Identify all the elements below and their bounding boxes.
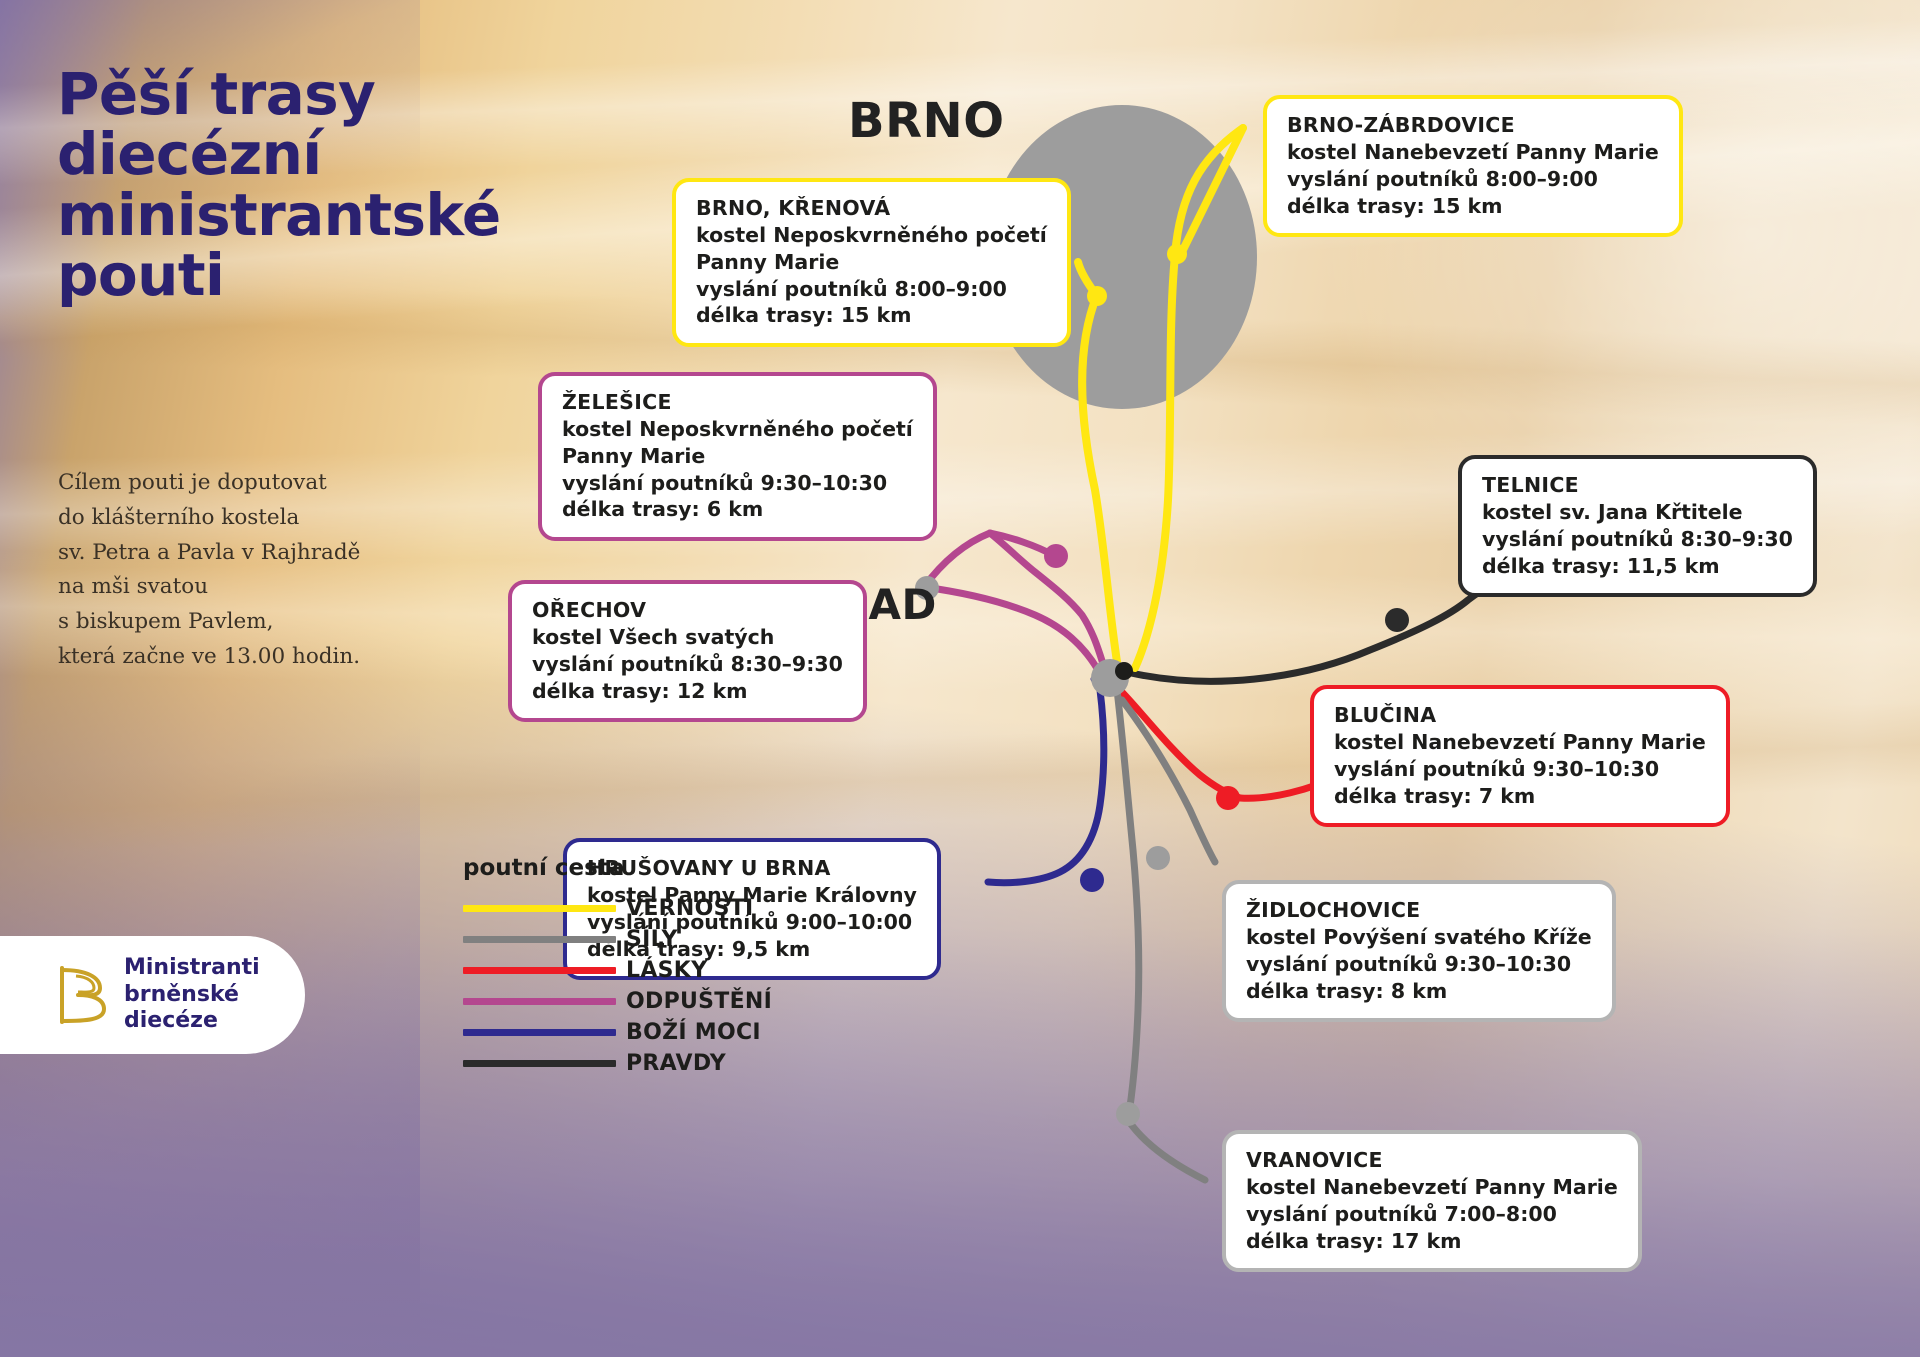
node-rajhrad-core — [1115, 662, 1133, 680]
callout-church: kostel Nanebevzetí Panny Marie — [1334, 729, 1706, 756]
logo-text: Ministranti brněnské diecéze — [124, 955, 260, 1035]
callout-title: VRANOVICE — [1246, 1147, 1618, 1174]
callout-brno-zabrdovice[interactable]: BRNO-ZÁBRDOVICE kostel Nanebevzetí Panny… — [1263, 95, 1683, 237]
legend-item-lasky: LÁSKY — [463, 955, 793, 986]
callout-length: délka trasy: 12 km — [532, 678, 843, 705]
callout-orechov[interactable]: OŘECHOV kostel Všech svatých vyslání pou… — [508, 580, 867, 722]
legend-label-bozi-moci: BOŽÍ MOCI — [626, 1020, 761, 1045]
route-sily-main — [1117, 690, 1139, 1120]
callout-departure: vyslání poutníků 7:00–8:00 — [1246, 1201, 1618, 1228]
callout-brno-krenova[interactable]: BRNO, KŘENOVÁ kostel Neposkvrněného poče… — [672, 178, 1071, 347]
legend-label-lasky: LÁSKY — [626, 958, 707, 983]
callout-title: ŽIDLOCHOVICE — [1246, 897, 1592, 924]
callout-length: délka trasy: 8 km — [1246, 978, 1592, 1005]
callout-title: BRNO-ZÁBRDOVICE — [1287, 112, 1659, 139]
callout-church: kostel Neposkvrněného početí Panny Marie — [562, 416, 913, 470]
legend-label-sily: SÍLY — [626, 927, 678, 952]
callout-church: kostel Nanebevzetí Panny Marie — [1287, 139, 1659, 166]
city-label-brno: BRNO — [848, 93, 1005, 149]
node-zidlochovice — [1146, 846, 1170, 870]
legend-item-vernosti: VĚRNOSTI — [463, 893, 793, 924]
callout-departure: vyslání poutníků 9:30–10:30 — [1334, 756, 1706, 783]
callout-church: kostel Všech svatých — [532, 624, 843, 651]
node-telnice — [1385, 608, 1409, 632]
legend-swatch-odpusteni — [463, 998, 616, 1005]
callout-title: BRNO, KŘENOVÁ — [696, 195, 1047, 222]
route-sily-zidlochovice — [1122, 700, 1215, 862]
callout-vranovice[interactable]: VRANOVICE kostel Nanebevzetí Panny Marie… — [1222, 1130, 1642, 1272]
callout-departure: vyslání poutníků 8:00–9:00 — [1287, 166, 1659, 193]
legend-label-pravdy: PRAVDY — [626, 1051, 726, 1076]
legend-item-sily: SÍLY — [463, 924, 793, 955]
callout-departure: vyslání poutníků 9:30–10:30 — [1246, 951, 1592, 978]
node-zelesice — [1044, 544, 1068, 568]
legend-swatch-sily — [463, 936, 616, 943]
callout-zidlochovice[interactable]: ŽIDLOCHOVICE kostel Povýšení svatého Kří… — [1222, 880, 1616, 1022]
node-hrusovany — [1080, 868, 1104, 892]
infographic-canvas: Pěší trasy diecézní ministrantské pouti … — [0, 0, 1920, 1357]
callout-length: délka trasy: 11,5 km — [1482, 553, 1793, 580]
legend-title: poutní cesta — [463, 855, 793, 881]
node-brno-krenova — [1087, 286, 1107, 306]
callout-length: délka trasy: 15 km — [1287, 193, 1659, 220]
route-sily-vranovice — [1128, 1120, 1205, 1180]
intro-paragraph: Cílem pouti je doputovat do klášterního … — [58, 466, 403, 675]
callout-departure: vyslání poutníků 8:00–9:00 — [696, 276, 1047, 303]
callout-title: ŽELEŠICE — [562, 389, 913, 416]
legend: poutní cesta VĚRNOSTI SÍLY LÁSKY ODPUŠTĚ… — [463, 855, 793, 1079]
callout-length: délka trasy: 7 km — [1334, 783, 1706, 810]
callout-departure: vyslání poutníků 8:30–9:30 — [1482, 526, 1793, 553]
callout-length: délka trasy: 15 km — [696, 302, 1047, 329]
legend-swatch-vernosti — [463, 905, 616, 912]
legend-item-pravdy: PRAVDY — [463, 1048, 793, 1079]
callout-length: délka trasy: 17 km — [1246, 1228, 1618, 1255]
node-blucina — [1216, 786, 1240, 810]
callout-church: kostel Povýšení svatého Kříže — [1246, 924, 1592, 951]
callout-title: OŘECHOV — [532, 597, 843, 624]
node-vranovice — [1116, 1102, 1140, 1126]
callout-church: kostel Nanebevzetí Panny Marie — [1246, 1174, 1618, 1201]
callout-zelesice[interactable]: ŽELEŠICE kostel Neposkvrněného početí Pa… — [538, 372, 937, 541]
callout-church: kostel sv. Jana Křtitele — [1482, 499, 1793, 526]
callout-church: kostel Neposkvrněného početí Panny Marie — [696, 222, 1047, 276]
callout-length: délka trasy: 6 km — [562, 496, 913, 523]
callout-title: TELNICE — [1482, 472, 1793, 499]
legend-label-vernosti: VĚRNOSTI — [626, 896, 754, 921]
b-monogram-icon — [56, 964, 110, 1026]
logo-badge: Ministranti brněnské diecéze — [0, 936, 305, 1054]
legend-item-bozi-moci: BOŽÍ MOCI — [463, 1017, 793, 1048]
legend-item-odpusteni: ODPUŠTĚNÍ — [463, 986, 793, 1017]
legend-swatch-lasky — [463, 967, 616, 974]
callout-blucina[interactable]: BLUČINA kostel Nanebevzetí Panny Marie v… — [1310, 685, 1730, 827]
callout-departure: vyslání poutníků 9:30–10:30 — [562, 470, 913, 497]
page-title: Pěší trasy diecézní ministrantské pouti — [57, 64, 577, 305]
route-bozi-moci — [988, 690, 1104, 883]
callout-telnice[interactable]: TELNICE kostel sv. Jana Křtitele vyslání… — [1458, 455, 1817, 597]
legend-swatch-bozi-moci — [463, 1029, 616, 1036]
callout-departure: vyslání poutníků 8:30–9:30 — [532, 651, 843, 678]
legend-swatch-pravdy — [463, 1060, 616, 1067]
callout-title: BLUČINA — [1334, 702, 1706, 729]
node-brno-zabrdovice — [1167, 244, 1187, 264]
legend-label-odpusteni: ODPUŠTĚNÍ — [626, 989, 772, 1014]
